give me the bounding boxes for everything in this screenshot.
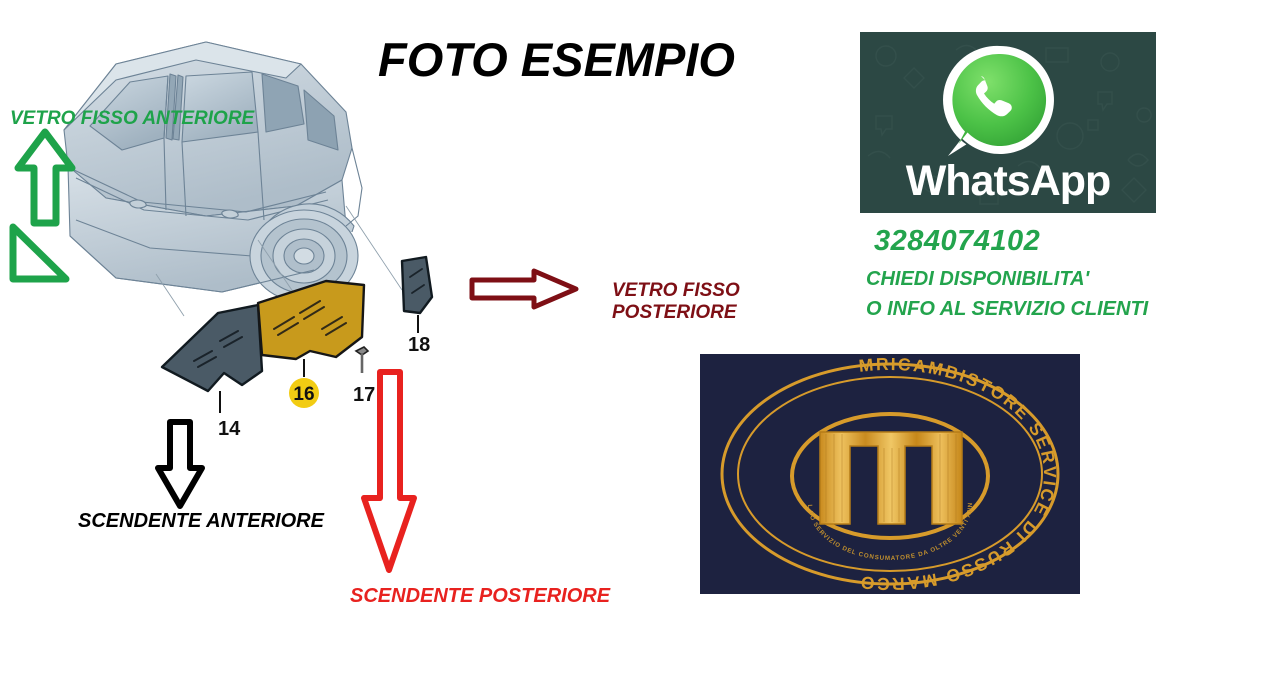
label-vetro-fisso-anteriore: VETRO FISSO ANTERIORE <box>10 108 254 130</box>
whatsapp-banner[interactable]: WhatsApp <box>860 32 1156 213</box>
part-16 <box>258 281 364 377</box>
contact-line-1: CHIEDI DISPONIBILITA' <box>866 268 1089 291</box>
label-vetro-fisso-posteriore: VETRO FISSO POSTERIORE <box>612 280 740 325</box>
part-18 <box>402 257 432 333</box>
page-title: FOTO ESEMPIO <box>378 36 798 83</box>
part-number-16: 16 <box>293 384 314 405</box>
whatsapp-phone-bubble-icon <box>936 38 1064 166</box>
arrow-down-black-icon <box>154 418 206 510</box>
exploded-glass-parts: 14 16 17 18 <box>150 255 480 445</box>
arrow-up-green-icon <box>12 128 78 228</box>
part-number-14: 14 <box>218 418 241 440</box>
part-14 <box>162 305 262 413</box>
logo-monogram <box>820 432 962 524</box>
triangle-green-icon <box>8 222 70 284</box>
whatsapp-wordmark: WhatsApp <box>860 160 1156 203</box>
arrow-down-red-icon <box>360 368 418 576</box>
shop-logo-banner: MRICAMBISTORE SERVICE DI RUSSO MARCO AL … <box>700 354 1080 594</box>
screenshot-canvas: 14 16 17 18 FOTO ESEMPIO VETRO F <box>0 0 1264 678</box>
arrow-right-darkred-icon <box>468 268 580 310</box>
part-number-18: 18 <box>408 334 430 356</box>
label-scendente-anteriore: SCENDENTE ANTERIORE <box>78 510 324 534</box>
contact-phone-number[interactable]: 3284074102 <box>874 225 1040 258</box>
contact-line-2: O INFO AL SERVIZIO CLIENTI <box>866 298 1148 321</box>
label-scendente-posteriore: SCENDENTE POSTERIORE <box>350 585 610 609</box>
